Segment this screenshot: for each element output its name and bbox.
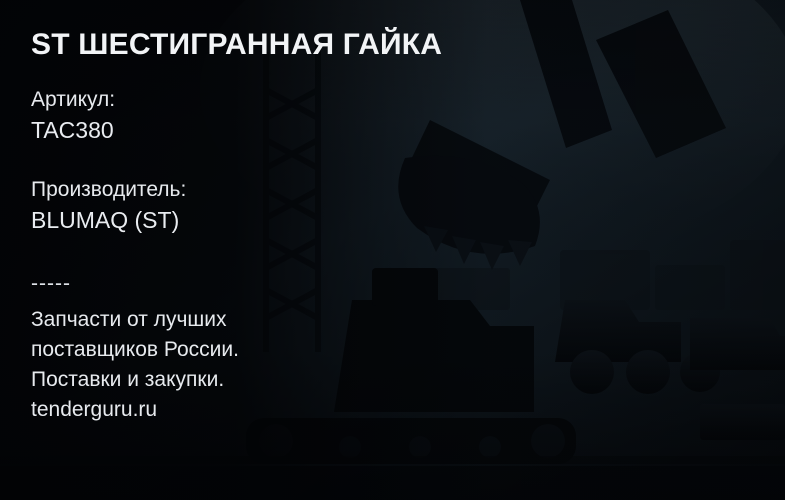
promo-line-1: Запчасти от лучших	[31, 305, 239, 335]
article-label: Артикул:	[31, 88, 115, 112]
article-value: TAC380	[31, 117, 114, 144]
page-title: ST ШЕСТИГРАННАЯ ГАЙКА	[31, 28, 442, 62]
promo-line-3: Поставки и закупки.	[31, 365, 239, 395]
divider-text: -----	[31, 272, 71, 296]
product-banner-card: ST ШЕСТИГРАННАЯ ГАЙКА Артикул: TAC380 Пр…	[0, 0, 785, 500]
promo-line-2: поставщиков России.	[31, 335, 239, 365]
promo-site-url: tenderguru.ru	[31, 395, 239, 425]
manufacturer-label: Производитель:	[31, 178, 186, 202]
product-info: ST ШЕСТИГРАННАЯ ГАЙКА Артикул: TAC380 Пр…	[31, 0, 501, 500]
manufacturer-value: BLUMAQ (ST)	[31, 207, 179, 234]
promo-block: Запчасти от лучших поставщиков России. П…	[31, 305, 239, 425]
